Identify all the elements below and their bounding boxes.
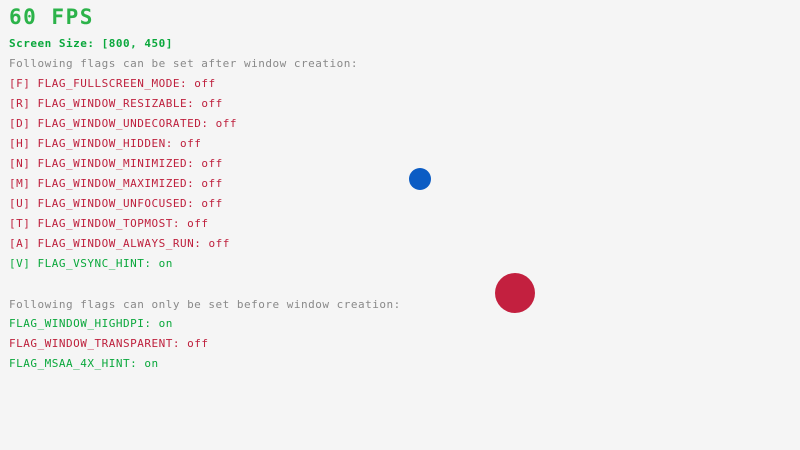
flag-row: FLAG_WINDOW_HIGHDPI: on <box>9 318 208 338</box>
after-creation-flag-list: [F] FLAG_FULLSCREEN_MODE: off[R] FLAG_WI… <box>9 78 237 278</box>
flag-shortcut-key: [F] <box>9 77 30 90</box>
flag-name: FLAG_WINDOW_HIGHDPI: <box>9 317 151 330</box>
after-creation-heading: Following flags can be set after window … <box>9 58 358 69</box>
before-creation-flag-list: FLAG_WINDOW_HIGHDPI: onFLAG_WINDOW_TRANS… <box>9 318 208 378</box>
flag-row[interactable]: [H] FLAG_WINDOW_HIDDEN: off <box>9 138 237 158</box>
flag-shortcut-key: [V] <box>9 257 30 270</box>
flag-name: FLAG_WINDOW_HIDDEN: <box>38 137 173 150</box>
screen-size-label: Screen Size: [800, 450] <box>9 38 173 49</box>
flag-row[interactable]: [F] FLAG_FULLSCREEN_MODE: off <box>9 78 237 98</box>
flag-value: on <box>144 357 158 370</box>
flag-shortcut-key: [H] <box>9 137 30 150</box>
flag-value: off <box>201 197 222 210</box>
flag-value: off <box>201 177 222 190</box>
flag-name: FLAG_WINDOW_TOPMOST: <box>38 217 180 230</box>
before-creation-heading: Following flags can only be set before w… <box>9 299 401 310</box>
flag-name: FLAG_FULLSCREEN_MODE: <box>38 77 188 90</box>
flag-name: FLAG_WINDOW_UNDECORATED: <box>38 117 209 130</box>
flag-value: on <box>159 257 173 270</box>
flag-row[interactable]: [T] FLAG_WINDOW_TOPMOST: off <box>9 218 237 238</box>
flag-value: off <box>180 137 201 150</box>
flag-value: off <box>201 97 222 110</box>
flag-value: on <box>159 317 173 330</box>
flag-shortcut-key: [A] <box>9 237 30 250</box>
flag-name: FLAG_VSYNC_HINT: <box>38 257 152 270</box>
flag-shortcut-key: [R] <box>9 97 30 110</box>
flag-row[interactable]: [A] FLAG_WINDOW_ALWAYS_RUN: off <box>9 238 237 258</box>
flag-shortcut-key: [N] <box>9 157 30 170</box>
flag-value: off <box>201 157 222 170</box>
raylib-window-canvas: 60 FPS Screen Size: [800, 450] Following… <box>0 0 800 450</box>
flag-shortcut-key: [U] <box>9 197 30 210</box>
flag-row[interactable]: [M] FLAG_WINDOW_MAXIMIZED: off <box>9 178 237 198</box>
flag-shortcut-key: [M] <box>9 177 30 190</box>
flag-value: off <box>187 217 208 230</box>
flag-name: FLAG_WINDOW_MINIMIZED: <box>38 157 195 170</box>
flag-name: FLAG_WINDOW_RESIZABLE: <box>38 97 195 110</box>
flag-row[interactable]: [R] FLAG_WINDOW_RESIZABLE: off <box>9 98 237 118</box>
flag-row: FLAG_WINDOW_TRANSPARENT: off <box>9 338 208 358</box>
blue-circle-shape <box>409 168 431 190</box>
flag-name: FLAG_WINDOW_TRANSPARENT: <box>9 337 180 350</box>
flag-name: FLAG_WINDOW_UNFOCUSED: <box>38 197 195 210</box>
flag-value: off <box>216 117 237 130</box>
flag-value: off <box>187 337 208 350</box>
flag-row[interactable]: [N] FLAG_WINDOW_MINIMIZED: off <box>9 158 237 178</box>
flag-name: FLAG_WINDOW_ALWAYS_RUN: <box>38 237 202 250</box>
red-circle-shape <box>495 273 535 313</box>
flag-row[interactable]: [U] FLAG_WINDOW_UNFOCUSED: off <box>9 198 237 218</box>
flag-row: FLAG_MSAA_4X_HINT: on <box>9 358 208 378</box>
flag-value: off <box>208 237 229 250</box>
flag-row[interactable]: [D] FLAG_WINDOW_UNDECORATED: off <box>9 118 237 138</box>
fps-counter: 60 FPS <box>9 7 94 28</box>
flag-shortcut-key: [T] <box>9 217 30 230</box>
flag-name: FLAG_WINDOW_MAXIMIZED: <box>38 177 195 190</box>
flag-name: FLAG_MSAA_4X_HINT: <box>9 357 137 370</box>
flag-value: off <box>194 77 215 90</box>
flag-row[interactable]: [V] FLAG_VSYNC_HINT: on <box>9 258 237 278</box>
flag-shortcut-key: [D] <box>9 117 30 130</box>
